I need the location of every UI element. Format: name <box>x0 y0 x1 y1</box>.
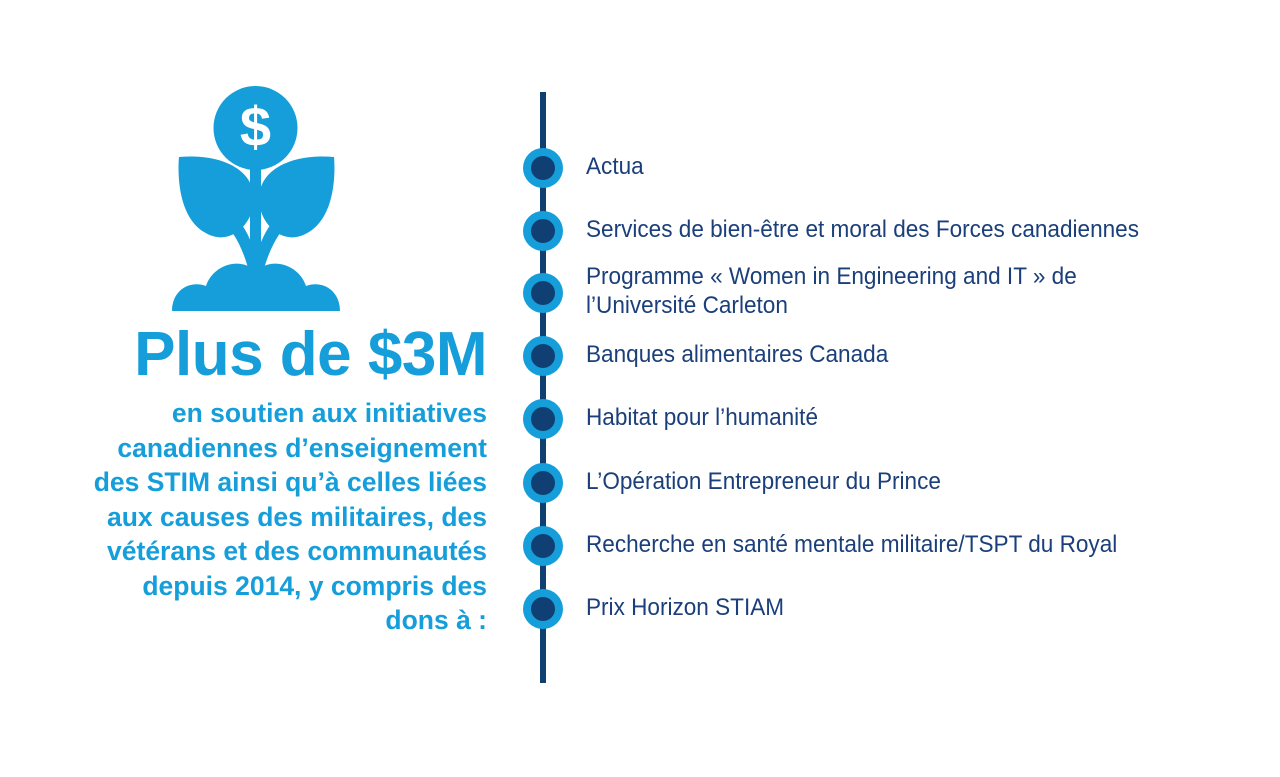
timeline-bullet-icon <box>523 526 563 566</box>
timeline-bullet-icon <box>523 463 563 503</box>
timeline-item-label: L’Opération Entrepreneur du Prince <box>586 467 1188 496</box>
infographic-canvas: $ Plus de $3M en soutien aux initiatives… <box>0 0 1280 777</box>
left-panel: $ Plus de $3M en soutien aux initiatives… <box>0 0 500 777</box>
body-line: canadiennes d’enseignement <box>0 431 487 466</box>
timeline-item-label: Habitat pour l’humanité <box>586 403 1188 432</box>
label-line: Actua <box>586 152 1188 181</box>
timeline-bullet-icon <box>523 148 563 188</box>
timeline-item-label: Actua <box>586 152 1188 181</box>
svg-text:$: $ <box>240 95 271 158</box>
label-line: L’Opération Entrepreneur du Prince <box>586 467 1188 496</box>
label-line: l’Université Carleton <box>586 291 1188 320</box>
label-line: Programme « Women in Engineering and IT … <box>586 262 1188 291</box>
label-line: Prix Horizon STIAM <box>586 593 1188 622</box>
timeline-bullet-icon <box>523 273 563 313</box>
body-line: depuis 2014, y compris des <box>0 569 487 604</box>
body-line: dons à : <box>0 603 487 638</box>
timeline-item-label: Recherche en santé mentale militaire/TSP… <box>586 530 1188 559</box>
label-line: Services de bien-être et moral des Force… <box>586 215 1188 244</box>
recipients-timeline: Actua Services de bien-être et moral des… <box>500 0 1280 777</box>
timeline-item-label: Programme « Women in Engineering and IT … <box>586 262 1188 320</box>
timeline-bullet-icon <box>523 211 563 251</box>
body-line: aux causes des militaires, des <box>0 500 487 535</box>
label-line: Habitat pour l’humanité <box>586 403 1188 432</box>
label-line: Recherche en santé mentale militaire/TSP… <box>586 530 1188 559</box>
timeline-item-label: Prix Horizon STIAM <box>586 593 1188 622</box>
timeline-item-label: Services de bien-être et moral des Force… <box>586 215 1188 244</box>
money-plant-growth-icon: $ <box>168 84 344 312</box>
timeline-bullet-icon <box>523 589 563 629</box>
body-line: en soutien aux initiatives <box>0 396 487 431</box>
timeline-item-label: Banques alimentaires Canada <box>586 340 1188 369</box>
timeline-bullet-icon <box>523 336 563 376</box>
body-line: des STIM ainsi qu’à celles liées <box>0 465 487 500</box>
body-line: vétérans et des communautés <box>0 534 487 569</box>
page-title: Plus de $3M <box>0 322 487 388</box>
label-line: Banques alimentaires Canada <box>586 340 1188 369</box>
timeline-bullet-icon <box>523 399 563 439</box>
headline-description: en soutien aux initiatives canadiennes d… <box>0 396 487 638</box>
